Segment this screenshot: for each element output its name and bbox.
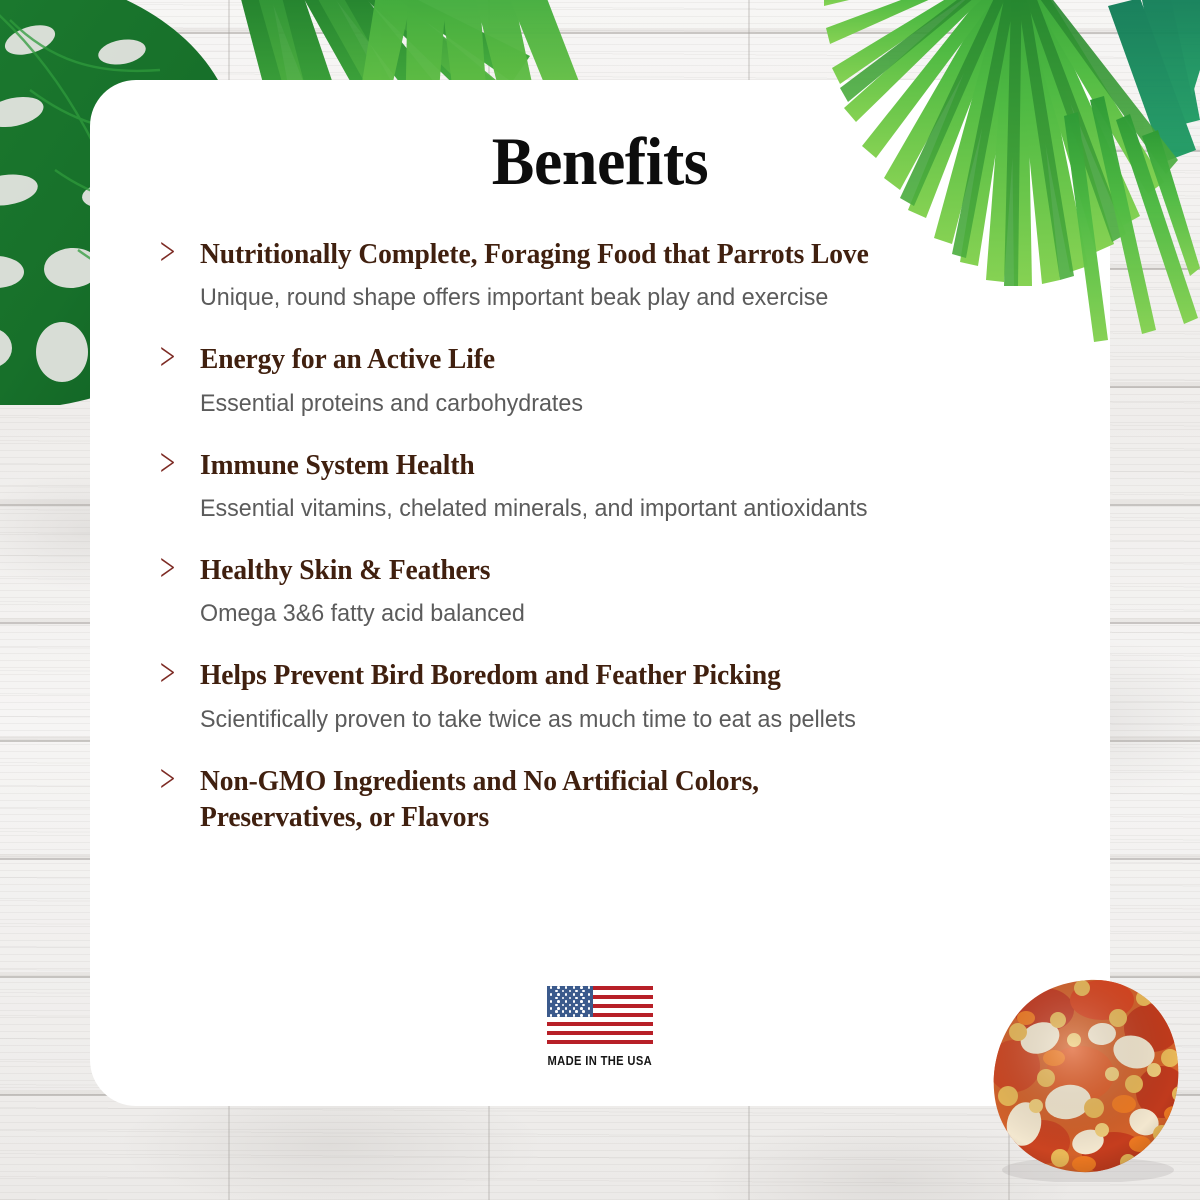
flag-canton <box>547 986 593 1017</box>
benefit-subtext: Essential vitamins, chelated minerals, a… <box>200 493 1009 525</box>
benefit-heading: Non-GMO Ingredients and No Artificial Co… <box>200 764 904 837</box>
benefit-subtext: Scientifically proven to take twice as m… <box>200 704 1009 736</box>
made-in-usa-badge: MADE IN THE USA <box>90 986 1110 1068</box>
benefit-subtext: Unique, round shape offers important bea… <box>200 282 1009 314</box>
chevron-right-icon: > <box>160 654 175 695</box>
benefit-item-5: > Helps Prevent Bird Boredom and Feather… <box>148 658 1052 735</box>
benefit-heading: Energy for an Active Life <box>200 342 1022 378</box>
chevron-right-icon: > <box>160 548 175 589</box>
benefit-item-4: > Healthy Skin & Feathers Omega 3&6 fatt… <box>148 553 1052 630</box>
benefit-heading: Immune System Health <box>200 448 1022 484</box>
page-title: Benefits <box>121 122 1080 201</box>
chevron-right-icon: > <box>160 232 175 273</box>
infographic-stage: Benefits > Nutritionally Complete, Forag… <box>0 0 1200 1200</box>
benefit-item-3: > Immune System Health Essential vitamin… <box>148 448 1052 525</box>
chevron-right-icon: > <box>160 443 175 484</box>
chevron-right-icon: > <box>160 338 175 379</box>
benefit-item-2: > Energy for an Active Life Essential pr… <box>148 342 1052 419</box>
benefits-card: Benefits > Nutritionally Complete, Forag… <box>90 80 1110 1106</box>
made-in-usa-caption: MADE IN THE USA <box>548 1053 653 1068</box>
usa-flag-icon <box>547 986 653 1044</box>
benefits-list: > Nutritionally Complete, Foraging Food … <box>90 237 1110 837</box>
benefit-heading: Nutritionally Complete, Foraging Food th… <box>200 237 1022 273</box>
benefit-heading: Healthy Skin & Feathers <box>200 553 1022 589</box>
benefit-subtext: Essential proteins and carbohydrates <box>200 388 1009 420</box>
benefit-item-1: > Nutritionally Complete, Foraging Food … <box>148 237 1052 314</box>
benefit-item-6: > Non-GMO Ingredients and No Artificial … <box>148 764 1052 837</box>
chevron-right-icon: > <box>160 759 175 800</box>
benefit-heading: Helps Prevent Bird Boredom and Feather P… <box>200 658 1022 694</box>
benefit-subtext: Omega 3&6 fatty acid balanced <box>200 598 1009 630</box>
